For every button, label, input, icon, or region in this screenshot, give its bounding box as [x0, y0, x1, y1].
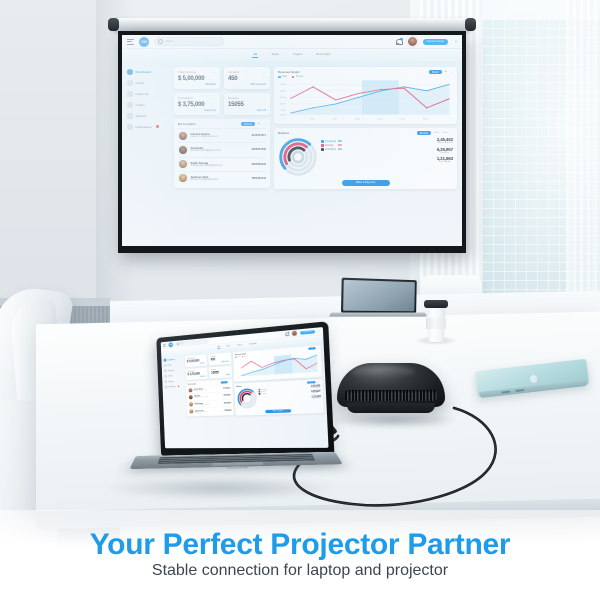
sidebar-item-payments[interactable]: Payments [164, 368, 183, 372]
second-laptop-lid [341, 278, 417, 314]
laptop-screen: CG Search Ganesh Kumar [161, 327, 329, 448]
roller-cap-right [465, 18, 476, 31]
dashboard-tabs: All Tasks Project Book Mark [122, 49, 462, 61]
stat-value: $ 5,00,000 [178, 76, 216, 82]
legend-pct: 12% [338, 149, 343, 151]
dome-projector [337, 363, 445, 421]
stat-action[interactable]: Add Contacts [228, 83, 266, 86]
coffee-cup [424, 300, 448, 342]
cup-lid [424, 300, 448, 308]
make-payment-button[interactable]: Make a Payment [342, 180, 390, 186]
revenue-graph-card: Revenue Graph Month All Total Income [233, 345, 322, 382]
legend-label: Income [296, 76, 304, 78]
svg-text:1000: 1000 [280, 114, 287, 117]
contact-email: alexander.modd@yahoo.com [191, 150, 250, 152]
legend-pending: Pending 28% [321, 144, 342, 147]
sidebar-label: Payments [136, 92, 149, 96]
sidebar-label: Notifications [169, 385, 176, 387]
laptop-dashboard: CG Search Ganesh Kumar [161, 327, 329, 448]
stat-action[interactable]: View All [211, 374, 230, 377]
svg-text:2000: 2000 [280, 110, 287, 113]
contact-row[interactable]: Ganesh Kumar ganesh.modd@yahoo.com 91236… [178, 128, 266, 142]
graph-range-all[interactable]: All [445, 71, 447, 73]
dashboard-content: Total Revenue ⋯ $ 5,00,000 Withdraw [174, 67, 457, 241]
second-laptop-base [329, 312, 427, 316]
figure-label: Current Balance [311, 387, 320, 389]
caption-banner: Your Perfect Projector Partner Stable co… [0, 510, 600, 600]
avatar [178, 159, 188, 169]
bell-icon [127, 124, 133, 130]
stat-card-reviews[interactable]: Reviews ⋯ 15055 View All [224, 93, 270, 115]
stat-row-bottom: Transaction ⋯ $ 3,75,000 Statement R [174, 93, 270, 115]
right-column: Revenue Graph Month All ⋯ [274, 67, 457, 241]
screen-frame: CG Search Ganesh Kumar [118, 31, 466, 253]
macbook-open: CG Search Ganesh Kumar [128, 330, 344, 500]
svg-text:6000: 6000 [280, 83, 287, 86]
balance-header: Balance Monthly Week Daily ⋯ [278, 131, 453, 135]
roller-cap-left [108, 18, 119, 31]
cart-icon [127, 102, 133, 108]
svg-text:100: 100 [310, 118, 315, 121]
caption-subtitle: Stable connection for laptop and project… [152, 562, 448, 580]
chevron-down-icon[interactable] [455, 41, 457, 42]
more-icon[interactable]: ⋯ [450, 132, 453, 135]
stat-row-bottom: Transaction⋯ $ 3,75,000 Statement Review… [185, 366, 232, 380]
projected-dashboard: CG Search Ganesh Kumar [122, 35, 462, 246]
legend-swatch [292, 76, 295, 79]
sidebar-item-settings[interactable]: Settings [127, 113, 169, 119]
sidebar-label: Dashboard [136, 70, 152, 74]
tab-book-mark[interactable]: Book Mark [316, 52, 330, 58]
contacts-filter-recent[interactable]: Recent [221, 381, 228, 384]
contact-phone: 9123654317 [223, 387, 230, 389]
figure-label: Tax Payable [311, 398, 320, 399]
balance-donut-chart [278, 137, 318, 177]
sidebar-label: Profile [136, 81, 145, 85]
sidebar-label: Orders [168, 375, 172, 377]
legend-income: Income [292, 76, 304, 79]
webcam-icon [236, 332, 238, 334]
legend-label: Completed [325, 141, 336, 143]
sidebar-item-payments[interactable]: Payments [127, 91, 169, 97]
figure-label: Revenue [437, 152, 453, 154]
svg-text:5000: 5000 [280, 90, 287, 93]
tab-all[interactable]: All [253, 52, 257, 58]
sidebar-label: Dashboard [167, 358, 174, 361]
tab-project[interactable]: Project [237, 344, 242, 348]
user-icon [127, 80, 133, 86]
svg-text:200: 200 [332, 118, 337, 121]
laptop-lid: CG Search Ganesh Kumar [156, 321, 334, 456]
figure-label: Current Balance [437, 142, 453, 144]
stat-action[interactable]: View All [228, 109, 266, 112]
contact-email: jackson.modd@yahoo.com [191, 179, 250, 181]
right-column: Revenue Graph Month All Total Income [233, 345, 325, 445]
stat-card-reviews[interactable]: Reviews⋯ 15055 View All [209, 366, 232, 379]
stat-title: Reviews [211, 368, 216, 370]
sidebar-item-profile[interactable]: Profile [127, 80, 169, 86]
legend-unfinished: Unfinished [259, 393, 267, 395]
screen-roller-casing [112, 18, 472, 31]
svg-text:4000: 4000 [280, 97, 287, 100]
menu-icon[interactable] [163, 344, 166, 347]
stat-card-total-revenue[interactable]: Total Revenue ⋯ $ 5,00,000 Withdraw [174, 67, 220, 89]
sidebar-item-notifications[interactable]: Notifications [127, 124, 169, 130]
stat-card-contacts[interactable]: Contacts ⋯ 450 Add Contacts [224, 67, 270, 89]
balance-body: Completed 48% Pending 28% [278, 137, 453, 177]
sidebar-item-dashboard[interactable]: Dashboard [164, 357, 183, 361]
contact-phone: 9123654317 [252, 134, 266, 137]
notification-dot [288, 332, 289, 333]
legend-label: Unfinished [261, 393, 267, 394]
dashboard-body: Dashboard Profile Payments [122, 61, 462, 246]
projector-base [347, 403, 435, 413]
graph-range-month[interactable]: Month [429, 70, 442, 74]
search-icon [177, 343, 179, 346]
balance-tab-week[interactable]: Week [317, 382, 320, 383]
avatar [189, 409, 194, 414]
sidebar: Dashboard Profile Payments [164, 356, 187, 445]
avatar [178, 131, 188, 141]
tab-book-mark[interactable]: Book Mark [249, 342, 257, 346]
gear-icon [165, 380, 168, 383]
cup-sleeve [426, 318, 446, 329]
status-badge [178, 386, 179, 388]
legend-pct: 28% [338, 145, 343, 147]
contact-row[interactable]: Jackson John jackson.modd@yahoo.com 7855… [178, 171, 266, 185]
more-icon[interactable]: ⋯ [263, 71, 266, 74]
balance-title: Balance [236, 385, 242, 387]
figure-revenue: 6,25,957Revenue [311, 390, 320, 394]
contact-email: smithgeorge.mobility@hoo.com [191, 165, 250, 167]
projector-screen: CG Search Ganesh Kumar [112, 18, 472, 258]
stat-title: Transaction [178, 96, 193, 100]
contact-phone: 7855484444 [224, 409, 231, 411]
legend-pct: 48% [338, 141, 343, 143]
dashboard-body: Dashboard Profile Payments [161, 342, 328, 449]
contact-phone: 9665569478 [252, 163, 266, 166]
figure-label: Revenue [311, 393, 320, 395]
stat-title: Contacts [228, 70, 239, 74]
contact-email: ganesh.modd@yahoo.com [194, 389, 222, 391]
contact-phone: 9665569478 [224, 402, 231, 404]
tab-tasks[interactable]: Tasks [226, 345, 230, 348]
stat-header: Transaction ⋯ [178, 96, 216, 100]
notification-bell-icon[interactable] [286, 332, 289, 336]
sidebar-label: Payments [168, 369, 174, 371]
balance-card: Balance Monthly Week [234, 379, 324, 415]
wall-left-panel [0, 0, 96, 312]
stat-title: Reviews [228, 96, 239, 100]
dashboard-content: Total Revenue⋯ $ 5,00,000 Withdraw Conta… [185, 345, 325, 445]
notification-dot [400, 38, 402, 40]
figure-tax-payable: 1,21,963Tax Payable [311, 395, 320, 399]
stat-header: Total Revenue ⋯ [178, 70, 216, 74]
second-laptop-screen [343, 280, 415, 312]
status-badge [156, 125, 159, 128]
graph-range-all[interactable]: All [317, 348, 318, 349]
contacts-filter-recent[interactable]: Recent [241, 122, 255, 126]
user-name-pill[interactable]: Ganesh Kumar [300, 330, 314, 335]
contacts-title: My Contacts [178, 122, 196, 126]
contacts-card: My Contacts Recent All ⋯ [174, 119, 270, 188]
stat-action[interactable]: Add Contacts [211, 361, 230, 364]
stat-card-transaction[interactable]: Transaction⋯ $ 3,75,000 Statement [185, 368, 207, 380]
balance-donut-chart [236, 388, 257, 410]
make-payment-button[interactable]: Make a Payment [265, 409, 291, 413]
figure-tax-payable: 1,21,963 Tax Payable [437, 156, 453, 163]
sidebar: Dashboard Profile Payments [127, 67, 169, 241]
legend-unfinished: Unfinished 12% [321, 148, 342, 151]
laptop-logo-icon [529, 374, 537, 383]
grid-icon [127, 69, 133, 75]
balance-figures: 2,45,452 Current Balance 6,25,957 Revenu… [437, 137, 453, 177]
contacts-filter-all[interactable]: All [258, 123, 260, 125]
card-icon [127, 91, 133, 97]
contact-email: jackson.modd@yahoo.com [195, 411, 223, 413]
avatar [178, 173, 188, 183]
stat-card-contacts[interactable]: Contacts⋯ 450 Add Contacts [208, 352, 231, 365]
stat-value: 15055 [228, 102, 266, 108]
product-scene: CG Search Ganesh Kumar [0, 0, 600, 600]
balance-tab-week[interactable]: Week [434, 132, 439, 134]
legend-total: Total [278, 76, 287, 79]
menu-icon[interactable] [127, 39, 134, 45]
balance-legend: Completed 48% Pending 28% [321, 137, 342, 177]
avatar [188, 388, 193, 393]
contacts-header: My Contacts Recent All ⋯ [178, 122, 266, 126]
more-icon[interactable]: ⋯ [227, 354, 229, 356]
more-icon[interactable]: ⋯ [213, 97, 216, 100]
figure-current-balance: 2,45,452 Current Balance [437, 137, 453, 144]
sidebar-item-profile[interactable]: Profile [164, 363, 183, 367]
svg-text:500: 500 [401, 118, 406, 121]
stat-header: Contacts ⋯ [228, 70, 266, 74]
balance-title: Balance [278, 131, 289, 135]
svg-text:3000: 3000 [280, 103, 287, 106]
app-logo[interactable]: CG [139, 37, 149, 47]
more-icon[interactable]: ⋯ [204, 369, 205, 371]
svg-text:300: 300 [355, 118, 360, 121]
balance-tab-monthly[interactable]: Monthly [417, 131, 431, 135]
bell-icon [165, 386, 168, 389]
legend-completed: Completed 48% [321, 140, 342, 143]
balance-tab-monthly[interactable]: Monthly [307, 381, 315, 384]
sidebar-label: Settings [168, 380, 173, 382]
caption-title: Your Perfect Projector Partner [90, 530, 511, 560]
dashboard-topbar: CG Search Ganesh Kumar [122, 35, 462, 49]
revenue-graph-legend: Total Income [278, 76, 453, 79]
sidebar-label: Notifications [136, 125, 152, 129]
more-icon[interactable]: ⋯ [213, 71, 216, 74]
projector-highlight [351, 366, 415, 378]
contact-row[interactable]: Alexander alexander.modd@yahoo.com 98558… [178, 142, 266, 156]
legend-swatch [321, 148, 324, 151]
stat-row-top: Total Revenue ⋯ $ 5,00,000 Withdraw [174, 67, 270, 89]
legend-swatch [321, 140, 324, 143]
legend-label: Unfinished [325, 149, 336, 151]
svg-text:400: 400 [378, 118, 383, 121]
more-icon[interactable]: ⋯ [450, 71, 453, 74]
figure-revenue: 6,25,957 Revenue [437, 147, 453, 154]
gear-icon [127, 113, 133, 119]
balance-card: Balance Monthly Week Daily ⋯ [274, 128, 457, 189]
contacts-card: My Contacts Recent All Ganesh Kumar [186, 379, 234, 416]
notification-bell-icon[interactable] [396, 38, 402, 45]
revenue-graph-header: Revenue Graph Month All ⋯ [278, 70, 453, 74]
revenue-line-chart: 600050004000 300020001000 100200300 4005… [278, 79, 453, 121]
legend-label: Total [282, 76, 287, 78]
more-icon[interactable]: ⋯ [263, 97, 266, 100]
grid-icon [164, 359, 167, 362]
legend-swatch [278, 76, 281, 79]
search-placeholder: Search [165, 40, 173, 43]
tab-tasks[interactable]: Tasks [271, 52, 279, 58]
sidebar-item-orders[interactable]: Orders [164, 374, 183, 378]
contacts-filter-all[interactable]: All [229, 382, 230, 383]
chevron-down-icon[interactable] [319, 331, 320, 332]
user-icon [164, 364, 167, 367]
left-column: Total Revenue⋯ $ 5,00,000 Withdraw Conta… [185, 352, 235, 445]
stat-value: 450 [228, 76, 266, 82]
stat-header: Reviews ⋯ [228, 96, 266, 100]
projector-vent-grille [345, 390, 437, 401]
revenue-graph-title: Revenue Graph [278, 70, 299, 74]
contact-email: alexander.modd@yahoo.com [194, 396, 222, 398]
sidebar-item-notifications[interactable]: Notifications [165, 385, 184, 389]
stat-action[interactable]: Statement [178, 109, 216, 112]
second-laptop [330, 279, 426, 327]
avatar [189, 402, 194, 407]
left-column: Total Revenue ⋯ $ 5,00,000 Withdraw [174, 67, 270, 241]
user-name-pill[interactable]: Ganesh Kumar [423, 39, 448, 45]
card-icon [164, 369, 167, 372]
sidebar-label: Settings [136, 114, 147, 118]
app-logo[interactable]: CG [168, 342, 173, 347]
contact-phone: 9855854790 [252, 148, 266, 151]
stat-action[interactable]: Withdraw [187, 363, 205, 366]
stat-card-total-revenue[interactable]: Total Revenue⋯ $ 5,00,000 Withdraw [185, 354, 207, 367]
stat-title: Total Revenue [178, 70, 196, 74]
contact-row[interactable]: Jackson Johnjackson.modd@yahoo.com 78554… [189, 406, 232, 415]
balance-tab-daily[interactable]: Daily [442, 132, 447, 134]
contact-email: smithgeorge.mobility@hoo.com [195, 403, 223, 405]
search-placeholder: Search [180, 343, 184, 345]
sidebar-item-dashboard[interactable]: Dashboard [127, 69, 169, 75]
sidebar-label: Profile [168, 364, 172, 366]
contact-phone: 7855484444 [252, 177, 266, 180]
screen-surface: CG Search Ganesh Kumar [122, 35, 462, 246]
contact-phone: 9855854790 [224, 395, 231, 397]
search-icon [158, 39, 163, 44]
tab-project[interactable]: Project [293, 52, 302, 58]
user-avatar[interactable] [292, 330, 298, 337]
contact-email: ganesh.modd@yahoo.com [191, 136, 250, 138]
stat-action[interactable]: Withdraw [178, 83, 216, 86]
cart-icon [164, 375, 167, 378]
user-avatar[interactable] [407, 36, 418, 47]
contact-row[interactable]: Smith George smithgeorge.mobility@hoo.co… [178, 157, 266, 171]
stat-action[interactable]: Statement [188, 376, 206, 379]
stat-value: $ 3,75,000 [178, 102, 216, 108]
svg-text:600: 600 [423, 118, 428, 121]
sidebar-label: Orders [136, 103, 145, 107]
stat-row-top: Total Revenue⋯ $ 5,00,000 Withdraw Conta… [185, 352, 232, 367]
revenue-graph-card: Revenue Graph Month All ⋯ [274, 67, 457, 124]
sidebar-item-orders[interactable]: Orders [127, 102, 169, 108]
search-input[interactable]: Search [154, 37, 224, 46]
legend-label: Pending [325, 145, 333, 147]
more-icon[interactable]: ⋯ [203, 356, 204, 358]
more-icon[interactable]: ⋯ [263, 123, 266, 126]
avatar [188, 395, 193, 400]
stat-card-transaction[interactable]: Transaction ⋯ $ 3,75,000 Statement [174, 93, 220, 115]
figure-current-balance: 2,45,452Current Balance [311, 384, 320, 388]
avatar [178, 145, 188, 155]
more-icon[interactable]: ⋯ [228, 368, 230, 370]
sidebar-item-settings[interactable]: Settings [165, 379, 184, 383]
figure-label: Tax Payable [437, 161, 453, 163]
tab-all[interactable]: All [218, 346, 220, 349]
legend-swatch [321, 144, 324, 147]
